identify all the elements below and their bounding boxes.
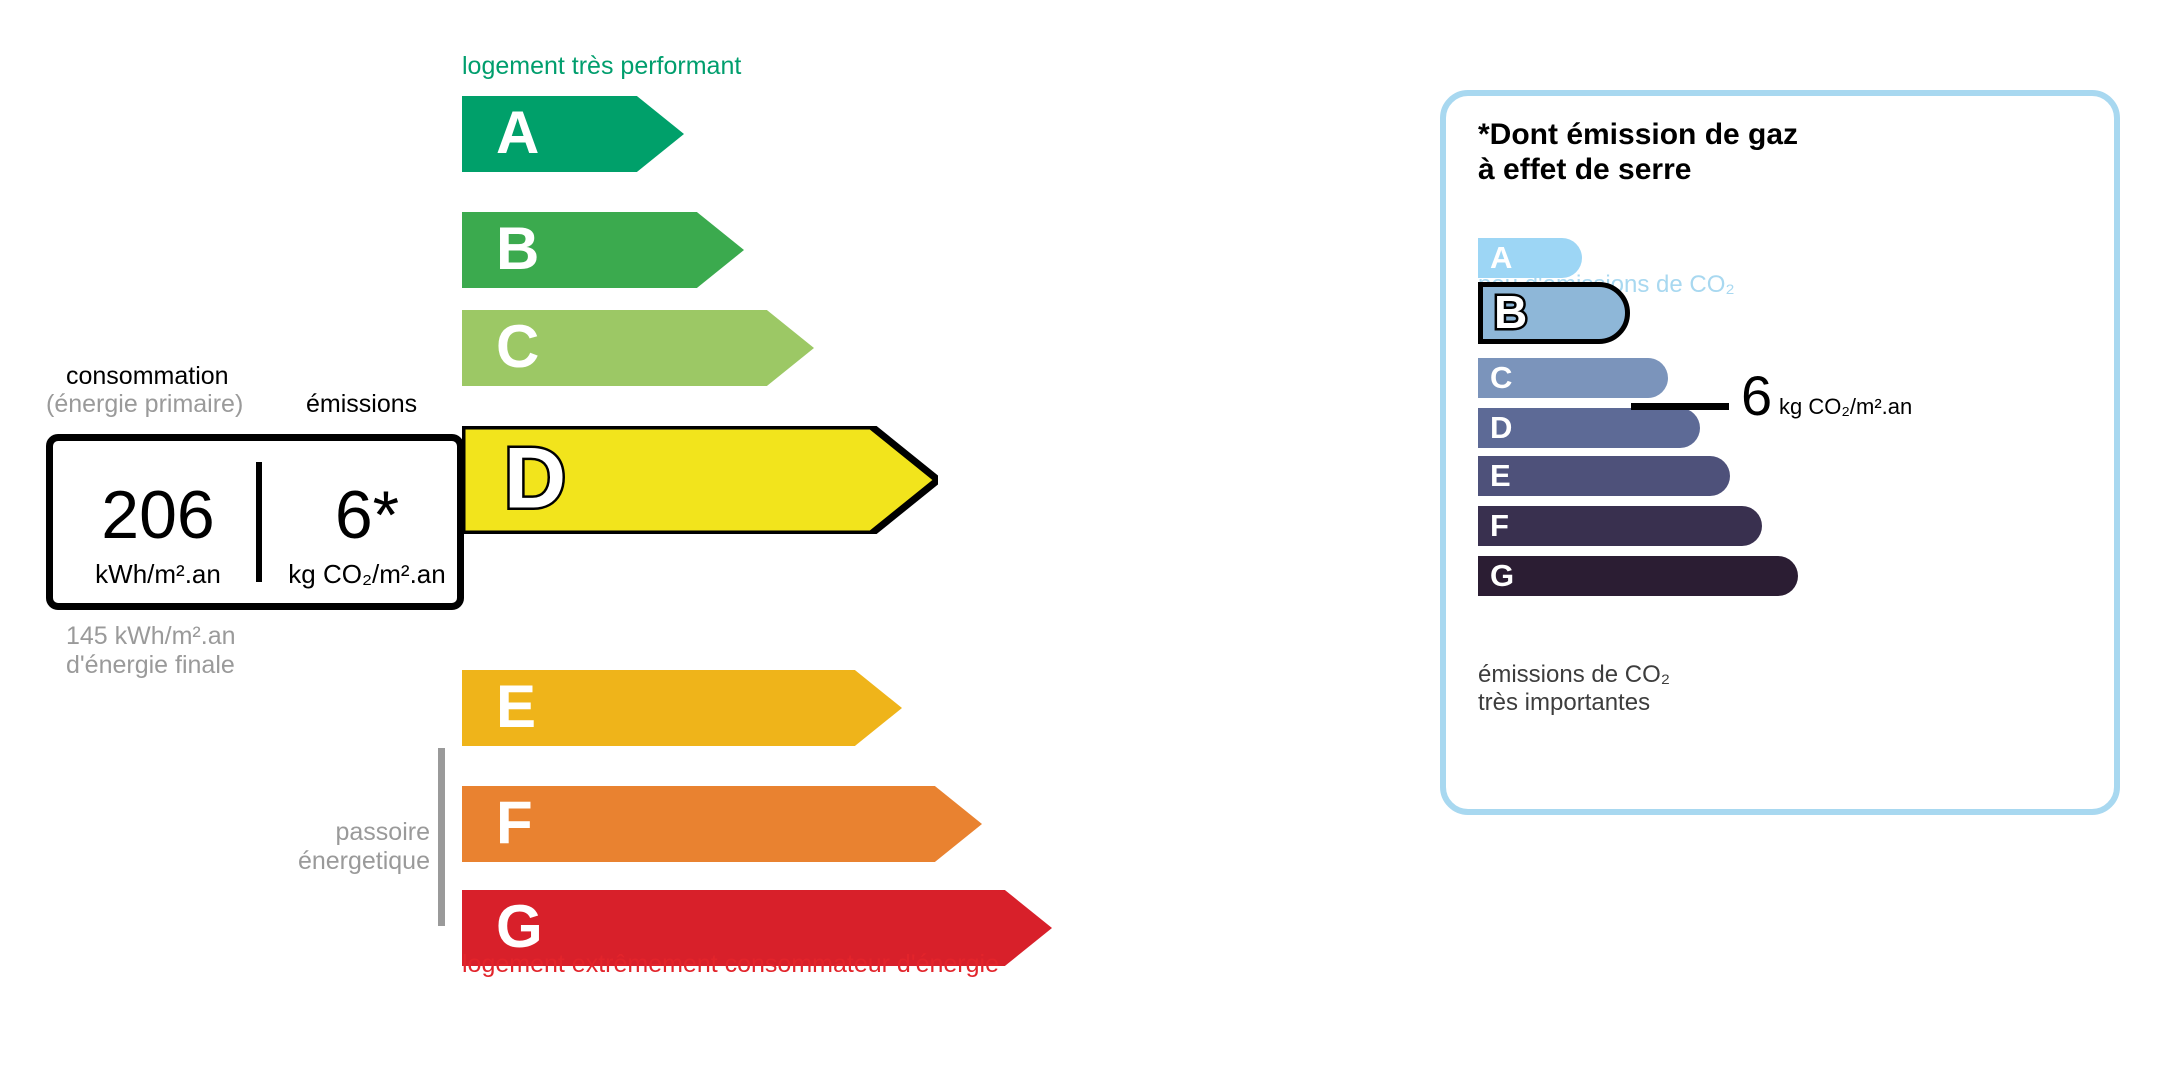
energy-band-f: F (462, 786, 982, 862)
energy-band-letter-g: G (496, 897, 543, 957)
co2-panel-title: *Dont émission de gazà effet de serre (1478, 118, 1798, 187)
co2-band-shape-e (1478, 456, 1730, 496)
energy-band-letter-a: A (496, 103, 539, 163)
co2-band-letter-b: B (1494, 289, 1527, 335)
text-line-0: émissions de CO₂ (1478, 661, 1670, 689)
emission-value: 6* (263, 481, 471, 549)
co2-band-letter-c: C (1490, 362, 1512, 393)
text-line-1: très importantes (1478, 689, 1670, 717)
co2-band-d: D (1478, 408, 1700, 448)
co2-bottom-caption: émissions de CO₂très importantes (1478, 661, 1670, 716)
passoire-label: passoireénergetique (240, 818, 430, 876)
consumption-value: 206 (53, 481, 263, 549)
emission-header-label: émissions (306, 390, 417, 419)
co2-band-e: E (1478, 456, 1730, 496)
co2-band-g: G (1478, 556, 1798, 596)
energy-band-d: D (462, 426, 938, 534)
scale-bottom-caption: logement extrêmement consommateur d'éner… (462, 950, 999, 979)
co2-band-a: A (1478, 238, 1582, 278)
consumption-value-cell: 206 kWh/m².an (53, 441, 263, 603)
emission-unit: kg CO₂/m².an (263, 561, 471, 587)
consumption-header-sublabel: (énergie primaire) (46, 390, 243, 419)
consumption-unit: kWh/m².an (53, 561, 263, 587)
co2-emission-panel: *Dont émission de gazà effet de serre pe… (1440, 90, 2120, 815)
consumption-header-label: consommation (66, 362, 229, 391)
final-energy-note: 145 kWh/m².and'énergie finale (66, 622, 236, 680)
co2-band-shape-g (1478, 556, 1798, 596)
co2-band-b: B (1478, 282, 1630, 344)
energy-band-letter-b: B (496, 219, 539, 279)
scale-top-caption: logement très performant (462, 52, 741, 81)
emission-value-cell: 6* kg CO₂/m².an (263, 441, 471, 603)
energy-band-letter-c: C (496, 317, 539, 377)
co2-band-c: C (1478, 358, 1668, 398)
co2-leader-line (1631, 403, 1729, 410)
energy-band-shape-f (462, 786, 982, 862)
text-line-1: à effet de serre (1478, 153, 1798, 188)
value-box-divider (256, 462, 262, 582)
dpe-value-box: 206 kWh/m².an 6* kg CO₂/m².an (46, 434, 464, 610)
text-line-1: d'énergie finale (66, 651, 236, 680)
energy-band-letter-d: D (504, 435, 566, 521)
energy-consumption-scale: logement très performant A B C D E F G l… (0, 0, 1300, 1079)
energy-band-b: B (462, 212, 744, 288)
co2-band-letter-g: G (1490, 560, 1514, 591)
text-line-0: passoire (240, 818, 430, 847)
energy-band-letter-e: E (496, 677, 536, 737)
energy-band-c: C (462, 310, 814, 386)
text-line-0: *Dont émission de gaz (1478, 118, 1798, 153)
text-line-0: 145 kWh/m².an (66, 622, 236, 651)
co2-band-letter-a: A (1490, 242, 1512, 273)
co2-band-shape-f (1478, 506, 1762, 546)
co2-band-letter-d: D (1490, 412, 1512, 443)
co2-value-unit: kg CO₂/m².an (1779, 396, 1912, 418)
passoire-marker-bar (438, 748, 445, 926)
co2-band-f: F (1478, 506, 1762, 546)
co2-band-letter-f: F (1490, 510, 1509, 541)
text-line-1: énergetique (240, 847, 430, 876)
co2-value: 6 (1741, 368, 1772, 424)
energy-band-a: A (462, 96, 684, 172)
energy-band-e: E (462, 670, 902, 746)
co2-band-letter-e: E (1490, 460, 1511, 491)
energy-band-letter-f: F (496, 793, 533, 853)
